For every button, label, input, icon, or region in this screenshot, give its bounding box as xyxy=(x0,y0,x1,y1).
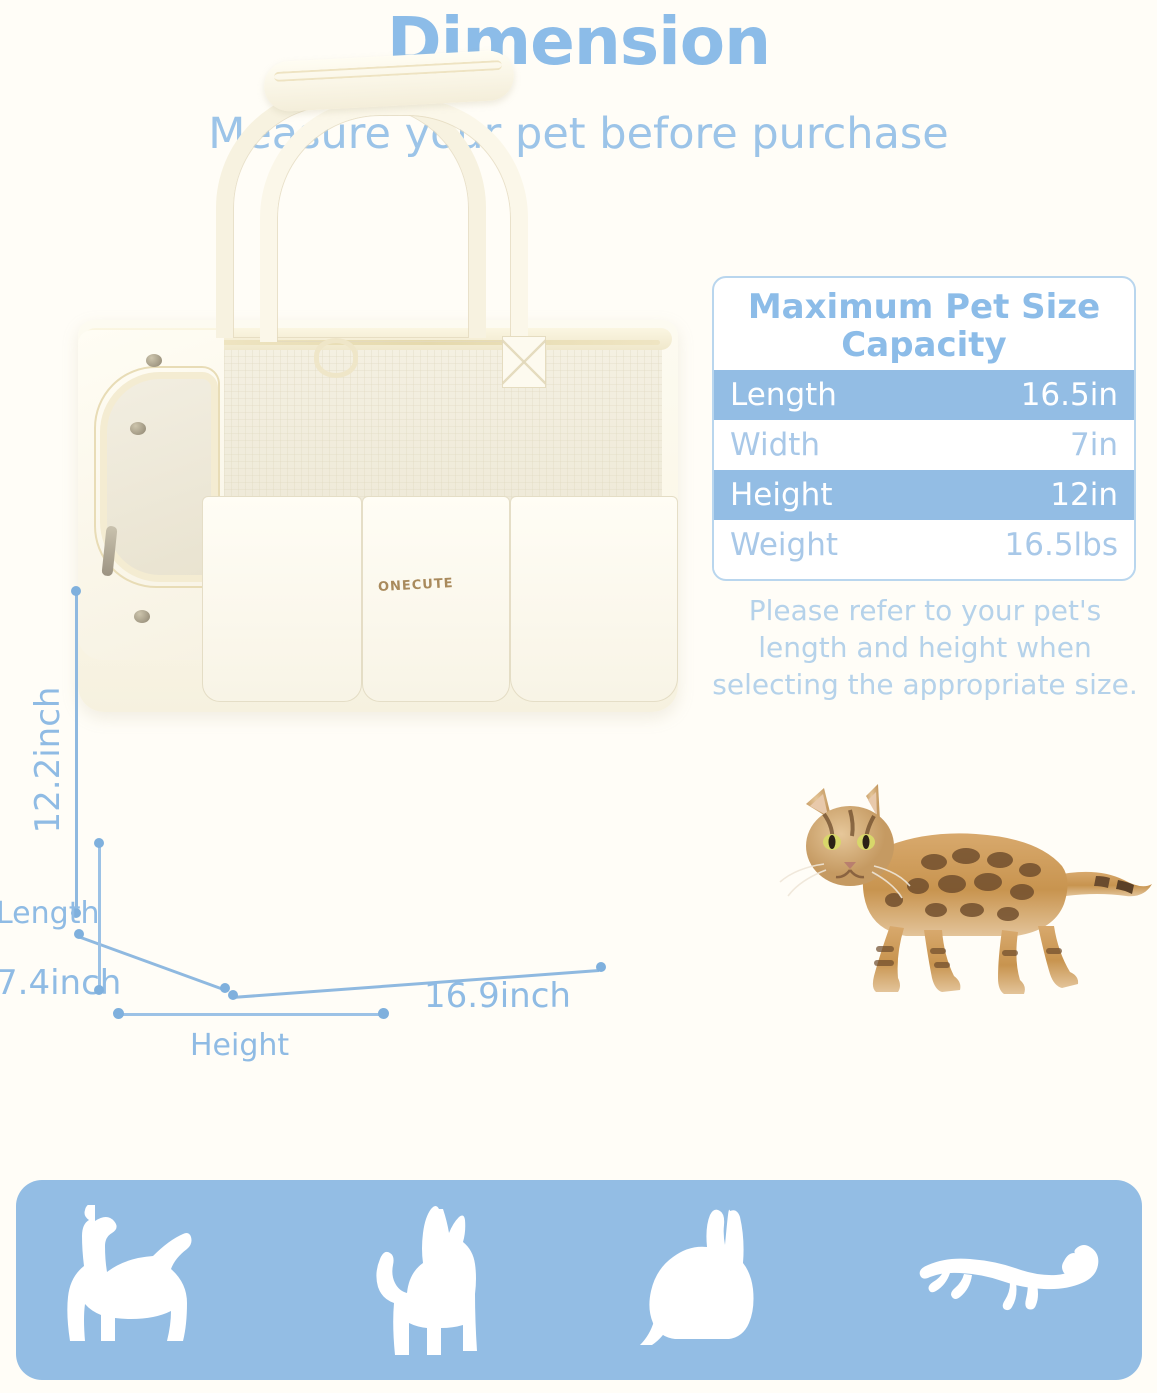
compatible-pets-banner xyxy=(16,1180,1142,1380)
row-label: Height xyxy=(730,477,832,513)
dimension-endpoint-dot xyxy=(228,990,238,1000)
dimension-endpoint-dot xyxy=(94,985,104,995)
d-ring-icon xyxy=(314,338,358,378)
row-label: Length xyxy=(730,377,837,413)
row-label: Weight xyxy=(730,527,838,563)
bag-handle-front xyxy=(260,98,528,342)
capacity-note: Please refer to your pet's length and he… xyxy=(700,592,1150,703)
table-row: Length 16.5in xyxy=(714,370,1134,420)
cat-dimension-label-vertical: Length xyxy=(0,896,99,931)
rabbit-silhouette-icon xyxy=(612,1205,827,1355)
row-value: 16.5lbs xyxy=(1005,527,1118,563)
front-pocket-left xyxy=(202,496,362,702)
cat-silhouette-icon xyxy=(49,1205,264,1355)
front-pocket-group: ONECUTE xyxy=(202,496,678,712)
capacity-table-title: Maximum Pet Size Capacity xyxy=(714,278,1134,370)
dimension-endpoint-dot xyxy=(71,586,81,596)
metal-stud-icon xyxy=(130,422,146,435)
handle-shoulder-pad xyxy=(263,49,515,112)
cat-dimension-line-horizontal xyxy=(118,1013,384,1016)
dog-silhouette-icon xyxy=(331,1205,546,1355)
dimension-endpoint-dot xyxy=(94,838,104,848)
dimension-label-length: 16.9inch xyxy=(424,976,571,1016)
table-row: Width 7in xyxy=(714,420,1134,470)
row-value: 12in xyxy=(1050,477,1118,513)
bag-handle-group xyxy=(78,20,678,360)
strap-x-stitch xyxy=(502,336,546,388)
bengal-cat-image xyxy=(766,780,1156,1010)
row-value: 7in xyxy=(1070,427,1118,463)
dimension-endpoint-dot xyxy=(113,1008,124,1019)
pet-measure-diagram xyxy=(690,770,1157,1060)
front-pocket-right xyxy=(510,496,678,702)
table-row: Weight 16.5lbs xyxy=(714,520,1134,570)
cat-dimension-label-horizontal: Height xyxy=(190,1028,289,1063)
row-label: Width xyxy=(730,427,820,463)
dimension-endpoint-dot xyxy=(596,962,606,972)
side-mesh-window xyxy=(100,372,218,582)
dimension-endpoint-dot xyxy=(378,1008,389,1019)
metal-stud-icon xyxy=(134,610,150,623)
front-pocket-center xyxy=(362,496,510,702)
dimension-label-height: 12.2inch xyxy=(28,650,68,870)
lizard-silhouette-icon xyxy=(894,1205,1109,1355)
table-row: Height 12in xyxy=(714,470,1134,520)
row-value: 16.5in xyxy=(1021,377,1118,413)
pet-carrier-bag-image: ONECUTE xyxy=(78,320,678,720)
dimension-line-height xyxy=(75,592,78,914)
dimension-label-depth: 7.4inch xyxy=(0,963,121,1003)
capacity-table: Maximum Pet Size Capacity Length 16.5in … xyxy=(712,276,1136,581)
